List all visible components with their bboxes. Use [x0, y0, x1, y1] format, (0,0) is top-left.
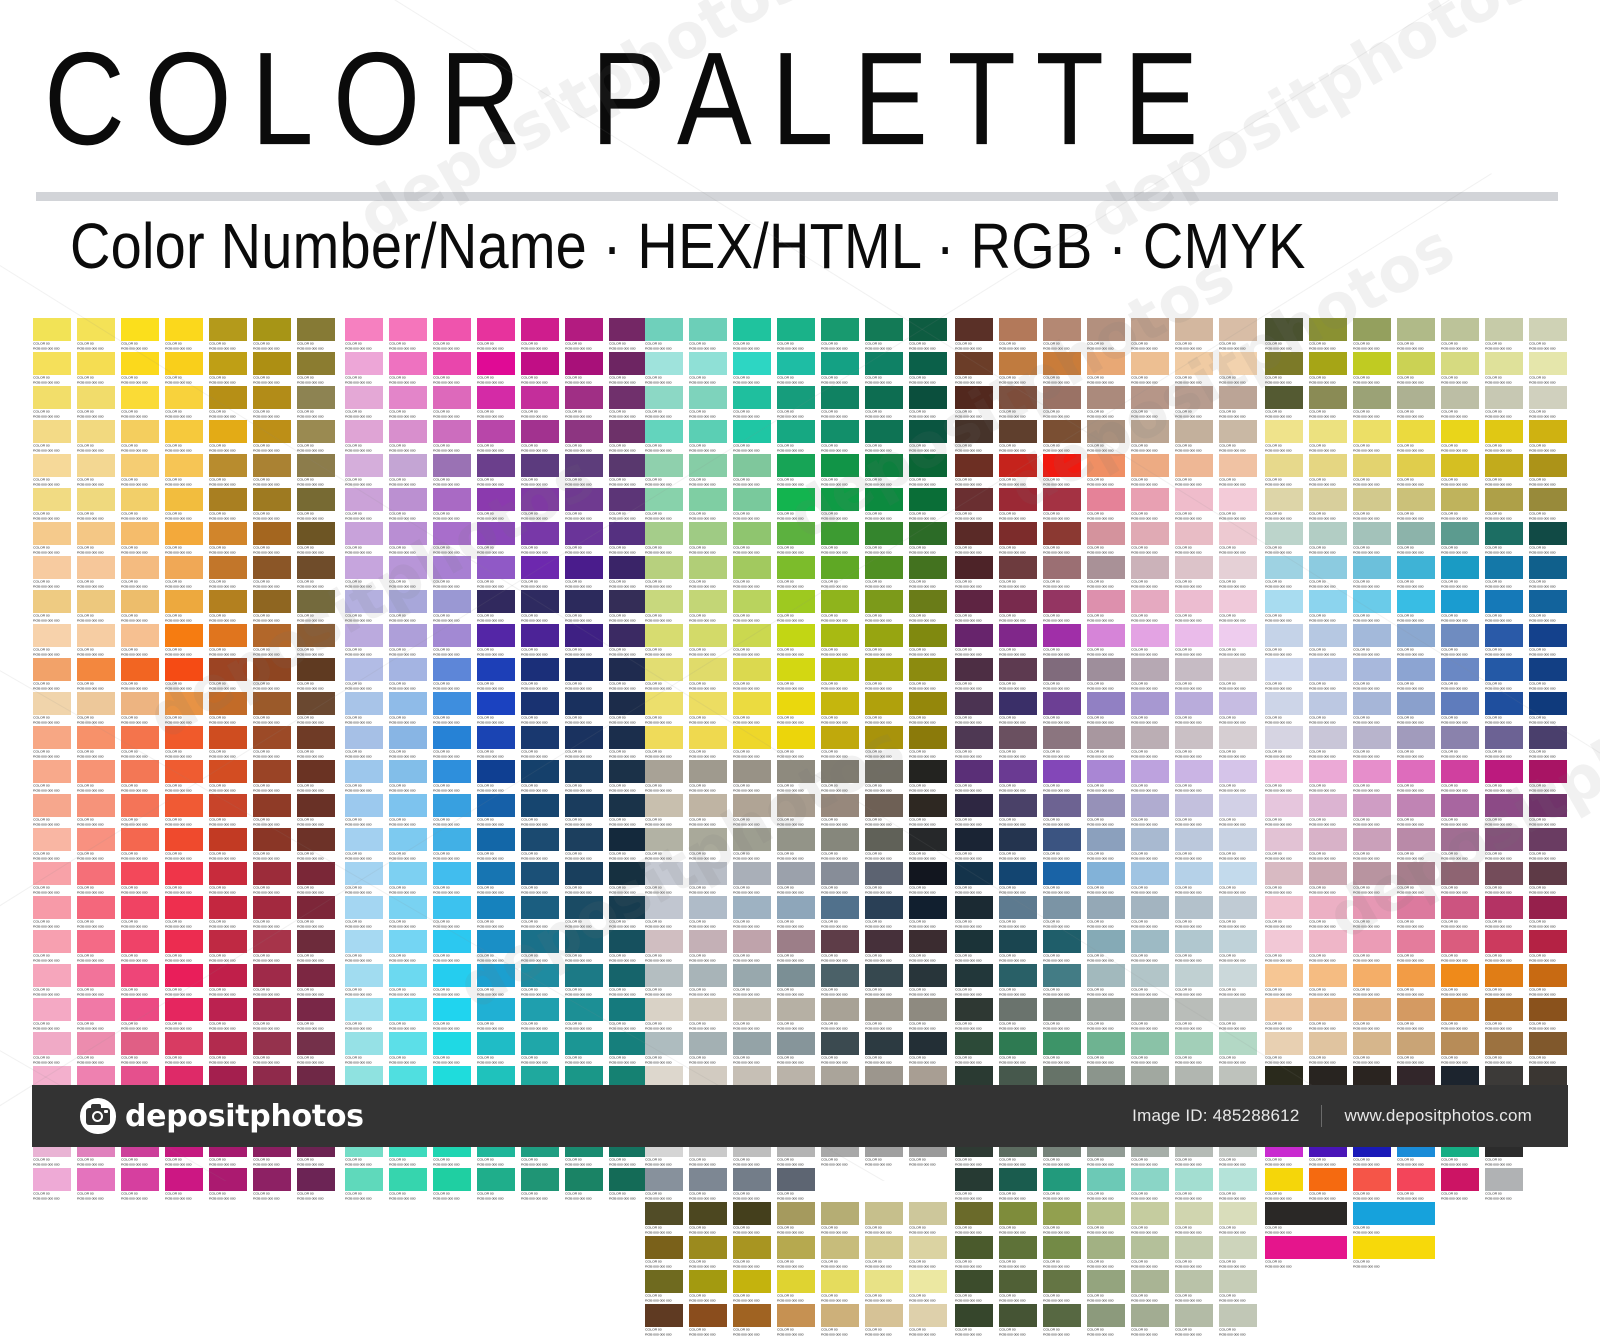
color-swatch[interactable]: COLOR 00RGB 000 000 000 [345, 930, 383, 964]
color-swatch[interactable]: COLOR 00RGB 000 000 000 [1131, 1236, 1169, 1270]
color-swatch[interactable]: COLOR 00RGB 000 000 000 [521, 624, 559, 658]
color-swatch[interactable]: COLOR 00RGB 000 000 000 [389, 624, 427, 658]
color-swatch[interactable]: COLOR 00RGB 000 000 000 [1131, 318, 1169, 352]
color-swatch[interactable]: COLOR 00RGB 000 000 000 [521, 692, 559, 726]
color-swatch[interactable]: COLOR 00RGB 000 000 000 [1087, 386, 1125, 420]
color-swatch[interactable]: COLOR 00RGB 000 000 000 [1265, 386, 1303, 420]
color-swatch[interactable]: COLOR 00RGB 000 000 000 [121, 556, 159, 590]
color-swatch[interactable]: COLOR 00RGB 000 000 000 [821, 794, 859, 828]
color-swatch[interactable]: COLOR 00RGB 000 000 000 [645, 760, 683, 794]
color-swatch[interactable]: COLOR 00RGB 000 000 000 [955, 658, 993, 692]
color-swatch[interactable]: COLOR 00RGB 000 000 000 [777, 624, 815, 658]
color-swatch[interactable]: COLOR 00RGB 000 000 000 [1131, 590, 1169, 624]
color-swatch[interactable]: COLOR 00RGB 000 000 000 [1087, 522, 1125, 556]
color-swatch[interactable]: COLOR 00RGB 000 000 000 [33, 930, 71, 964]
color-swatch[interactable]: COLOR 00RGB 000 000 000 [565, 726, 603, 760]
color-swatch[interactable]: COLOR 00RGB 000 000 000 [1087, 590, 1125, 624]
color-swatch[interactable]: COLOR 00RGB 000 000 000 [77, 522, 115, 556]
color-swatch[interactable]: COLOR 00RGB 000 000 000 [1175, 420, 1213, 454]
color-swatch[interactable]: COLOR 00RGB 000 000 000 [1309, 1032, 1347, 1066]
color-swatch[interactable]: COLOR 00RGB 000 000 000 [645, 828, 683, 862]
color-swatch[interactable]: COLOR 00RGB 000 000 000 [1219, 760, 1257, 794]
color-swatch[interactable]: COLOR 00RGB 000 000 000 [565, 1032, 603, 1066]
color-swatch[interactable]: COLOR 00RGB 000 000 000 [77, 862, 115, 896]
color-swatch[interactable]: COLOR 00RGB 000 000 000 [121, 386, 159, 420]
color-swatch[interactable]: COLOR 00RGB 000 000 000 [33, 692, 71, 726]
color-swatch[interactable]: COLOR 00RGB 000 000 000 [955, 1270, 993, 1304]
color-swatch[interactable]: COLOR 00RGB 000 000 000 [433, 998, 471, 1032]
color-swatch[interactable]: COLOR 00RGB 000 000 000 [33, 590, 71, 624]
color-swatch[interactable]: COLOR 00RGB 000 000 000 [609, 828, 647, 862]
color-swatch[interactable]: COLOR 00RGB 000 000 000 [865, 1304, 903, 1338]
color-swatch[interactable]: COLOR 00RGB 000 000 000 [1485, 896, 1523, 930]
color-swatch[interactable]: COLOR 00RGB 000 000 000 [345, 998, 383, 1032]
color-swatch[interactable]: COLOR 00RGB 000 000 000 [955, 828, 993, 862]
color-swatch[interactable]: COLOR 00RGB 000 000 000 [1485, 488, 1523, 522]
color-swatch[interactable]: COLOR 00RGB 000 000 000 [1265, 896, 1303, 930]
color-swatch[interactable]: COLOR 00RGB 000 000 000 [1441, 998, 1479, 1032]
color-swatch[interactable]: COLOR 00RGB 000 000 000 [345, 760, 383, 794]
color-swatch[interactable]: COLOR 00RGB 000 000 000 [1087, 828, 1125, 862]
color-swatch[interactable]: COLOR 00RGB 000 000 000 [521, 862, 559, 896]
color-swatch[interactable]: COLOR 00RGB 000 000 000 [1175, 352, 1213, 386]
color-swatch[interactable]: COLOR 00RGB 000 000 000 [1265, 352, 1303, 386]
color-swatch[interactable]: COLOR 00RGB 000 000 000 [1175, 862, 1213, 896]
color-swatch[interactable]: COLOR 00RGB 000 000 000 [77, 726, 115, 760]
color-swatch[interactable]: COLOR 00RGB 000 000 000 [1353, 862, 1391, 896]
color-swatch[interactable]: COLOR 00RGB 000 000 000 [777, 386, 815, 420]
color-swatch[interactable]: COLOR 00RGB 000 000 000 [1175, 556, 1213, 590]
color-swatch[interactable]: COLOR 00RGB 000 000 000 [955, 522, 993, 556]
color-swatch[interactable]: COLOR 00RGB 000 000 000 [1485, 1168, 1523, 1202]
color-swatch[interactable]: COLOR 00RGB 000 000 000 [609, 522, 647, 556]
color-swatch[interactable]: COLOR 00RGB 000 000 000 [1309, 964, 1347, 998]
color-swatch[interactable]: COLOR 00RGB 000 000 000 [209, 998, 247, 1032]
color-swatch[interactable]: COLOR 00RGB 000 000 000 [909, 1304, 947, 1338]
color-swatch[interactable]: COLOR 00RGB 000 000 000 [689, 624, 727, 658]
color-swatch[interactable]: COLOR 00RGB 000 000 000 [433, 420, 471, 454]
color-swatch[interactable]: COLOR 00RGB 000 000 000 [121, 930, 159, 964]
color-swatch[interactable]: COLOR 00RGB 000 000 000 [609, 352, 647, 386]
color-swatch[interactable]: COLOR 00RGB 000 000 000 [1131, 522, 1169, 556]
color-swatch[interactable]: COLOR 00RGB 000 000 000 [121, 964, 159, 998]
color-swatch[interactable]: COLOR 00RGB 000 000 000 [1219, 454, 1257, 488]
color-swatch[interactable]: COLOR 00RGB 000 000 000 [1397, 998, 1435, 1032]
color-swatch[interactable]: COLOR 00RGB 000 000 000 [297, 1168, 335, 1202]
color-swatch[interactable]: COLOR 00RGB 000 000 000 [955, 692, 993, 726]
color-swatch[interactable]: COLOR 00RGB 000 000 000 [1175, 624, 1213, 658]
color-swatch[interactable]: COLOR 00RGB 000 000 000 [165, 862, 203, 896]
color-swatch[interactable]: COLOR 00RGB 000 000 000 [297, 454, 335, 488]
color-swatch[interactable]: COLOR 00RGB 000 000 000 [1265, 794, 1303, 828]
color-swatch[interactable]: COLOR 00RGB 000 000 000 [1219, 1304, 1257, 1338]
color-swatch[interactable]: COLOR 00RGB 000 000 000 [865, 726, 903, 760]
color-swatch[interactable]: COLOR 00RGB 000 000 000 [955, 590, 993, 624]
color-swatch[interactable]: COLOR 00RGB 000 000 000 [433, 488, 471, 522]
color-swatch[interactable]: COLOR 00RGB 000 000 000 [821, 1236, 859, 1270]
color-swatch[interactable]: COLOR 00RGB 000 000 000 [689, 760, 727, 794]
color-swatch[interactable]: COLOR 00RGB 000 000 000 [865, 454, 903, 488]
color-swatch[interactable]: COLOR 00RGB 000 000 000 [1131, 1168, 1169, 1202]
color-swatch[interactable]: COLOR 00RGB 000 000 000 [1485, 1032, 1523, 1066]
color-swatch[interactable]: COLOR 00RGB 000 000 000 [345, 488, 383, 522]
color-swatch[interactable]: COLOR 00RGB 000 000 000 [777, 454, 815, 488]
color-swatch[interactable]: COLOR 00RGB 000 000 000 [1353, 930, 1391, 964]
color-swatch[interactable]: COLOR 00RGB 000 000 000 [733, 318, 771, 352]
color-swatch[interactable]: COLOR 00RGB 000 000 000 [521, 386, 559, 420]
color-swatch[interactable]: COLOR 00RGB 000 000 000 [999, 964, 1037, 998]
color-swatch[interactable]: COLOR 00RGB 000 000 000 [645, 454, 683, 488]
color-swatch[interactable]: COLOR 00RGB 000 000 000 [77, 352, 115, 386]
color-swatch[interactable]: COLOR 00RGB 000 000 000 [777, 1270, 815, 1304]
color-swatch[interactable]: COLOR 00RGB 000 000 000 [955, 1168, 993, 1202]
color-swatch[interactable]: COLOR 00RGB 000 000 000 [609, 964, 647, 998]
color-swatch[interactable]: COLOR 00RGB 000 000 000 [777, 1304, 815, 1338]
color-swatch[interactable]: COLOR 00RGB 000 000 000 [821, 964, 859, 998]
color-swatch[interactable]: COLOR 00RGB 000 000 000 [689, 1168, 727, 1202]
color-swatch[interactable]: COLOR 00RGB 000 000 000 [521, 556, 559, 590]
color-swatch[interactable]: COLOR 00RGB 000 000 000 [209, 930, 247, 964]
color-swatch[interactable]: COLOR 00RGB 000 000 000 [345, 794, 383, 828]
color-swatch[interactable]: COLOR 00RGB 000 000 000 [433, 1168, 471, 1202]
color-swatch[interactable]: COLOR 00RGB 000 000 000 [253, 454, 291, 488]
color-swatch[interactable]: COLOR 00RGB 000 000 000 [389, 556, 427, 590]
color-swatch[interactable]: COLOR 00RGB 000 000 000 [477, 964, 515, 998]
color-swatch[interactable]: COLOR 00RGB 000 000 000 [1131, 1202, 1169, 1236]
color-swatch[interactable]: COLOR 00RGB 000 000 000 [999, 386, 1037, 420]
color-swatch[interactable]: COLOR 00RGB 000 000 000 [689, 590, 727, 624]
color-swatch[interactable]: COLOR 00RGB 000 000 000 [645, 726, 683, 760]
color-swatch[interactable]: COLOR 00RGB 000 000 000 [1485, 658, 1523, 692]
color-swatch[interactable]: COLOR 00RGB 000 000 000 [645, 1168, 683, 1202]
color-swatch[interactable]: COLOR 00RGB 000 000 000 [253, 1168, 291, 1202]
color-swatch[interactable]: COLOR 00RGB 000 000 000 [777, 658, 815, 692]
color-swatch[interactable]: COLOR 00RGB 000 000 000 [865, 386, 903, 420]
color-swatch[interactable]: COLOR 00RGB 000 000 000 [645, 522, 683, 556]
color-swatch[interactable]: COLOR 00RGB 000 000 000 [955, 624, 993, 658]
color-swatch[interactable]: COLOR 00RGB 000 000 000 [1353, 726, 1391, 760]
color-swatch[interactable]: COLOR 00RGB 000 000 000 [1353, 352, 1391, 386]
color-swatch[interactable]: COLOR 00RGB 000 000 000 [609, 318, 647, 352]
color-swatch[interactable]: COLOR 00RGB 000 000 000 [297, 318, 335, 352]
color-swatch[interactable]: COLOR 00RGB 000 000 000 [345, 318, 383, 352]
color-swatch[interactable]: COLOR 00RGB 000 000 000 [1309, 420, 1347, 454]
color-swatch[interactable]: COLOR 00RGB 000 000 000 [1265, 862, 1303, 896]
color-swatch[interactable]: COLOR 00RGB 000 000 000 [645, 1236, 683, 1270]
color-swatch[interactable]: COLOR 00RGB 000 000 000 [821, 726, 859, 760]
color-swatch[interactable]: COLOR 00RGB 000 000 000 [1353, 1236, 1435, 1270]
color-swatch[interactable]: COLOR 00RGB 000 000 000 [253, 522, 291, 556]
color-swatch[interactable]: COLOR 00RGB 000 000 000 [821, 998, 859, 1032]
color-swatch[interactable]: COLOR 00RGB 000 000 000 [1219, 318, 1257, 352]
color-swatch[interactable]: COLOR 00RGB 000 000 000 [1131, 624, 1169, 658]
color-swatch[interactable]: COLOR 00RGB 000 000 000 [777, 556, 815, 590]
color-swatch[interactable]: COLOR 00RGB 000 000 000 [1175, 1032, 1213, 1066]
color-swatch[interactable]: COLOR 00RGB 000 000 000 [565, 862, 603, 896]
color-swatch[interactable]: COLOR 00RGB 000 000 000 [297, 964, 335, 998]
color-swatch[interactable]: COLOR 00RGB 000 000 000 [865, 556, 903, 590]
color-swatch[interactable]: COLOR 00RGB 000 000 000 [909, 488, 947, 522]
color-swatch[interactable]: COLOR 00RGB 000 000 000 [1441, 488, 1479, 522]
color-swatch[interactable]: COLOR 00RGB 000 000 000 [253, 386, 291, 420]
color-swatch[interactable]: COLOR 00RGB 000 000 000 [609, 488, 647, 522]
color-swatch[interactable]: COLOR 00RGB 000 000 000 [121, 318, 159, 352]
color-swatch[interactable]: COLOR 00RGB 000 000 000 [565, 760, 603, 794]
color-swatch[interactable]: COLOR 00RGB 000 000 000 [777, 590, 815, 624]
color-swatch[interactable]: COLOR 00RGB 000 000 000 [1353, 624, 1391, 658]
color-swatch[interactable]: COLOR 00RGB 000 000 000 [777, 862, 815, 896]
color-swatch[interactable]: COLOR 00RGB 000 000 000 [209, 352, 247, 386]
color-swatch[interactable]: COLOR 00RGB 000 000 000 [253, 420, 291, 454]
color-swatch[interactable]: COLOR 00RGB 000 000 000 [521, 1168, 559, 1202]
color-swatch[interactable]: COLOR 00RGB 000 000 000 [1265, 828, 1303, 862]
color-swatch[interactable]: COLOR 00RGB 000 000 000 [165, 964, 203, 998]
color-swatch[interactable]: COLOR 00RGB 000 000 000 [253, 1032, 291, 1066]
color-swatch[interactable]: COLOR 00RGB 000 000 000 [1441, 454, 1479, 488]
color-swatch[interactable]: COLOR 00RGB 000 000 000 [609, 896, 647, 930]
color-swatch[interactable]: COLOR 00RGB 000 000 000 [821, 896, 859, 930]
color-swatch[interactable]: COLOR 00RGB 000 000 000 [777, 488, 815, 522]
color-swatch[interactable]: COLOR 00RGB 000 000 000 [33, 828, 71, 862]
color-swatch[interactable]: COLOR 00RGB 000 000 000 [1087, 318, 1125, 352]
color-swatch[interactable]: COLOR 00RGB 000 000 000 [865, 624, 903, 658]
color-swatch[interactable]: COLOR 00RGB 000 000 000 [565, 1168, 603, 1202]
color-swatch[interactable]: COLOR 00RGB 000 000 000 [1485, 964, 1523, 998]
color-swatch[interactable]: COLOR 00RGB 000 000 000 [253, 998, 291, 1032]
color-swatch[interactable]: COLOR 00RGB 000 000 000 [999, 590, 1037, 624]
color-swatch[interactable]: COLOR 00RGB 000 000 000 [77, 896, 115, 930]
color-swatch[interactable]: COLOR 00RGB 000 000 000 [1043, 862, 1081, 896]
color-swatch[interactable]: COLOR 00RGB 000 000 000 [345, 726, 383, 760]
color-swatch[interactable]: COLOR 00RGB 000 000 000 [609, 556, 647, 590]
color-swatch[interactable]: COLOR 00RGB 000 000 000 [433, 318, 471, 352]
color-swatch[interactable]: COLOR 00RGB 000 000 000 [77, 556, 115, 590]
color-swatch[interactable]: COLOR 00RGB 000 000 000 [77, 590, 115, 624]
color-swatch[interactable]: COLOR 00RGB 000 000 000 [1087, 964, 1125, 998]
color-swatch[interactable]: COLOR 00RGB 000 000 000 [1309, 692, 1347, 726]
color-swatch[interactable]: COLOR 00RGB 000 000 000 [1131, 794, 1169, 828]
color-swatch[interactable]: COLOR 00RGB 000 000 000 [521, 794, 559, 828]
color-swatch[interactable]: COLOR 00RGB 000 000 000 [609, 760, 647, 794]
color-swatch[interactable]: COLOR 00RGB 000 000 000 [999, 318, 1037, 352]
color-swatch[interactable]: COLOR 00RGB 000 000 000 [121, 794, 159, 828]
color-swatch[interactable]: COLOR 00RGB 000 000 000 [1353, 488, 1391, 522]
color-swatch[interactable]: COLOR 00RGB 000 000 000 [1441, 420, 1479, 454]
color-swatch[interactable]: COLOR 00RGB 000 000 000 [1353, 658, 1391, 692]
color-swatch[interactable]: COLOR 00RGB 000 000 000 [689, 862, 727, 896]
color-swatch[interactable]: COLOR 00RGB 000 000 000 [777, 1032, 815, 1066]
color-swatch[interactable]: COLOR 00RGB 000 000 000 [821, 624, 859, 658]
color-swatch[interactable]: COLOR 00RGB 000 000 000 [865, 1032, 903, 1066]
color-swatch[interactable]: COLOR 00RGB 000 000 000 [733, 862, 771, 896]
color-swatch[interactable]: COLOR 00RGB 000 000 000 [821, 1270, 859, 1304]
color-swatch[interactable]: COLOR 00RGB 000 000 000 [645, 1032, 683, 1066]
color-swatch[interactable]: COLOR 00RGB 000 000 000 [1175, 386, 1213, 420]
color-swatch[interactable]: COLOR 00RGB 000 000 000 [609, 658, 647, 692]
color-swatch[interactable]: COLOR 00RGB 000 000 000 [1087, 488, 1125, 522]
color-swatch[interactable]: COLOR 00RGB 000 000 000 [1529, 794, 1567, 828]
color-swatch[interactable]: COLOR 00RGB 000 000 000 [121, 862, 159, 896]
color-swatch[interactable]: COLOR 00RGB 000 000 000 [1309, 318, 1347, 352]
color-swatch[interactable]: COLOR 00RGB 000 000 000 [645, 658, 683, 692]
color-swatch[interactable]: COLOR 00RGB 000 000 000 [1309, 862, 1347, 896]
color-swatch[interactable]: COLOR 00RGB 000 000 000 [477, 624, 515, 658]
color-swatch[interactable]: COLOR 00RGB 000 000 000 [821, 420, 859, 454]
color-swatch[interactable]: COLOR 00RGB 000 000 000 [477, 794, 515, 828]
color-swatch[interactable]: COLOR 00RGB 000 000 000 [1043, 658, 1081, 692]
color-swatch[interactable]: COLOR 00RGB 000 000 000 [565, 624, 603, 658]
color-swatch[interactable]: COLOR 00RGB 000 000 000 [1219, 896, 1257, 930]
color-swatch[interactable]: COLOR 00RGB 000 000 000 [1219, 386, 1257, 420]
color-swatch[interactable]: COLOR 00RGB 000 000 000 [1441, 318, 1479, 352]
color-swatch[interactable]: COLOR 00RGB 000 000 000 [477, 522, 515, 556]
color-swatch[interactable]: COLOR 00RGB 000 000 000 [689, 522, 727, 556]
color-swatch[interactable]: COLOR 00RGB 000 000 000 [297, 556, 335, 590]
color-swatch[interactable]: COLOR 00RGB 000 000 000 [1309, 386, 1347, 420]
color-swatch[interactable]: COLOR 00RGB 000 000 000 [865, 522, 903, 556]
color-swatch[interactable]: COLOR 00RGB 000 000 000 [1043, 590, 1081, 624]
color-swatch[interactable]: COLOR 00RGB 000 000 000 [165, 386, 203, 420]
color-swatch[interactable]: COLOR 00RGB 000 000 000 [1087, 658, 1125, 692]
color-swatch[interactable]: COLOR 00RGB 000 000 000 [1309, 726, 1347, 760]
color-swatch[interactable]: COLOR 00RGB 000 000 000 [1353, 998, 1391, 1032]
color-swatch[interactable]: COLOR 00RGB 000 000 000 [1087, 1032, 1125, 1066]
color-swatch[interactable]: COLOR 00RGB 000 000 000 [1397, 760, 1435, 794]
color-swatch[interactable]: COLOR 00RGB 000 000 000 [955, 488, 993, 522]
color-swatch[interactable]: COLOR 00RGB 000 000 000 [565, 590, 603, 624]
color-swatch[interactable]: COLOR 00RGB 000 000 000 [1219, 590, 1257, 624]
color-swatch[interactable]: COLOR 00RGB 000 000 000 [865, 420, 903, 454]
color-swatch[interactable]: COLOR 00RGB 000 000 000 [865, 1236, 903, 1270]
color-swatch[interactable]: COLOR 00RGB 000 000 000 [1219, 420, 1257, 454]
color-swatch[interactable]: COLOR 00RGB 000 000 000 [521, 658, 559, 692]
color-swatch[interactable]: COLOR 00RGB 000 000 000 [1043, 454, 1081, 488]
color-swatch[interactable]: COLOR 00RGB 000 000 000 [1309, 1168, 1347, 1202]
color-swatch[interactable]: COLOR 00RGB 000 000 000 [1087, 794, 1125, 828]
color-swatch[interactable]: COLOR 00RGB 000 000 000 [1043, 624, 1081, 658]
color-swatch[interactable]: COLOR 00RGB 000 000 000 [777, 692, 815, 726]
color-swatch[interactable]: COLOR 00RGB 000 000 000 [1087, 1236, 1125, 1270]
color-swatch[interactable]: COLOR 00RGB 000 000 000 [733, 1032, 771, 1066]
color-swatch[interactable]: COLOR 00RGB 000 000 000 [1265, 658, 1303, 692]
color-swatch[interactable]: COLOR 00RGB 000 000 000 [1397, 1032, 1435, 1066]
color-swatch[interactable]: COLOR 00RGB 000 000 000 [909, 794, 947, 828]
color-swatch[interactable]: COLOR 00RGB 000 000 000 [1309, 556, 1347, 590]
color-swatch[interactable]: COLOR 00RGB 000 000 000 [1265, 624, 1303, 658]
color-swatch[interactable]: COLOR 00RGB 000 000 000 [77, 794, 115, 828]
color-swatch[interactable]: COLOR 00RGB 000 000 000 [565, 420, 603, 454]
color-swatch[interactable]: COLOR 00RGB 000 000 000 [77, 998, 115, 1032]
color-swatch[interactable]: COLOR 00RGB 000 000 000 [33, 454, 71, 488]
color-swatch[interactable]: COLOR 00RGB 000 000 000 [477, 760, 515, 794]
color-swatch[interactable]: COLOR 00RGB 000 000 000 [1309, 454, 1347, 488]
color-swatch[interactable]: COLOR 00RGB 000 000 000 [345, 1168, 383, 1202]
color-swatch[interactable]: COLOR 00RGB 000 000 000 [1529, 420, 1567, 454]
color-swatch[interactable]: COLOR 00RGB 000 000 000 [821, 862, 859, 896]
color-swatch[interactable]: COLOR 00RGB 000 000 000 [121, 760, 159, 794]
color-swatch[interactable]: COLOR 00RGB 000 000 000 [645, 862, 683, 896]
color-swatch[interactable]: COLOR 00RGB 000 000 000 [1265, 760, 1303, 794]
color-swatch[interactable]: COLOR 00RGB 000 000 000 [1175, 522, 1213, 556]
color-swatch[interactable]: COLOR 00RGB 000 000 000 [1175, 1304, 1213, 1338]
color-swatch[interactable]: COLOR 00RGB 000 000 000 [1265, 590, 1303, 624]
color-swatch[interactable]: COLOR 00RGB 000 000 000 [821, 1202, 859, 1236]
color-swatch[interactable]: COLOR 00RGB 000 000 000 [1353, 828, 1391, 862]
color-swatch[interactable]: COLOR 00RGB 000 000 000 [733, 692, 771, 726]
color-swatch[interactable]: COLOR 00RGB 000 000 000 [165, 998, 203, 1032]
color-swatch[interactable]: COLOR 00RGB 000 000 000 [1131, 1270, 1169, 1304]
color-swatch[interactable]: COLOR 00RGB 000 000 000 [1397, 556, 1435, 590]
color-swatch[interactable]: COLOR 00RGB 000 000 000 [645, 556, 683, 590]
color-swatch[interactable]: COLOR 00RGB 000 000 000 [433, 896, 471, 930]
color-swatch[interactable]: COLOR 00RGB 000 000 000 [1087, 1304, 1125, 1338]
color-swatch[interactable]: COLOR 00RGB 000 000 000 [909, 522, 947, 556]
color-swatch[interactable]: COLOR 00RGB 000 000 000 [345, 692, 383, 726]
color-swatch[interactable]: COLOR 00RGB 000 000 000 [389, 386, 427, 420]
color-swatch[interactable]: COLOR 00RGB 000 000 000 [821, 488, 859, 522]
color-swatch[interactable]: COLOR 00RGB 000 000 000 [689, 726, 727, 760]
color-swatch[interactable]: COLOR 00RGB 000 000 000 [389, 692, 427, 726]
color-swatch[interactable]: COLOR 00RGB 000 000 000 [955, 386, 993, 420]
color-swatch[interactable]: COLOR 00RGB 000 000 000 [477, 386, 515, 420]
color-swatch[interactable]: COLOR 00RGB 000 000 000 [209, 590, 247, 624]
color-swatch[interactable]: COLOR 00RGB 000 000 000 [909, 454, 947, 488]
color-swatch[interactable]: COLOR 00RGB 000 000 000 [909, 726, 947, 760]
color-swatch[interactable]: COLOR 00RGB 000 000 000 [477, 828, 515, 862]
color-swatch[interactable]: COLOR 00RGB 000 000 000 [999, 794, 1037, 828]
color-swatch[interactable]: COLOR 00RGB 000 000 000 [1397, 896, 1435, 930]
color-swatch[interactable]: COLOR 00RGB 000 000 000 [345, 658, 383, 692]
color-swatch[interactable]: COLOR 00RGB 000 000 000 [433, 930, 471, 964]
color-swatch[interactable]: COLOR 00RGB 000 000 000 [121, 692, 159, 726]
color-swatch[interactable]: COLOR 00RGB 000 000 000 [1529, 488, 1567, 522]
color-swatch[interactable]: COLOR 00RGB 000 000 000 [1309, 930, 1347, 964]
color-swatch[interactable]: COLOR 00RGB 000 000 000 [521, 352, 559, 386]
color-swatch[interactable]: COLOR 00RGB 000 000 000 [909, 930, 947, 964]
color-swatch[interactable]: COLOR 00RGB 000 000 000 [777, 522, 815, 556]
color-swatch[interactable]: COLOR 00RGB 000 000 000 [1131, 828, 1169, 862]
color-swatch[interactable]: COLOR 00RGB 000 000 000 [821, 556, 859, 590]
color-swatch[interactable]: COLOR 00RGB 000 000 000 [345, 386, 383, 420]
color-swatch[interactable]: COLOR 00RGB 000 000 000 [33, 794, 71, 828]
color-swatch[interactable]: COLOR 00RGB 000 000 000 [1397, 658, 1435, 692]
color-swatch[interactable]: COLOR 00RGB 000 000 000 [1265, 964, 1303, 998]
color-swatch[interactable]: COLOR 00RGB 000 000 000 [209, 624, 247, 658]
color-swatch[interactable]: COLOR 00RGB 000 000 000 [297, 998, 335, 1032]
color-swatch[interactable]: COLOR 00RGB 000 000 000 [297, 896, 335, 930]
color-swatch[interactable]: COLOR 00RGB 000 000 000 [999, 1202, 1037, 1236]
color-swatch[interactable]: COLOR 00RGB 000 000 000 [209, 658, 247, 692]
color-swatch[interactable]: COLOR 00RGB 000 000 000 [1087, 692, 1125, 726]
color-swatch[interactable]: COLOR 00RGB 000 000 000 [1087, 624, 1125, 658]
color-swatch[interactable]: COLOR 00RGB 000 000 000 [689, 1270, 727, 1304]
color-swatch[interactable]: COLOR 00RGB 000 000 000 [689, 964, 727, 998]
color-swatch[interactable]: COLOR 00RGB 000 000 000 [121, 590, 159, 624]
color-swatch[interactable]: COLOR 00RGB 000 000 000 [1175, 726, 1213, 760]
color-swatch[interactable]: COLOR 00RGB 000 000 000 [999, 488, 1037, 522]
color-swatch[interactable]: COLOR 00RGB 000 000 000 [609, 930, 647, 964]
color-swatch[interactable]: COLOR 00RGB 000 000 000 [33, 352, 71, 386]
color-swatch[interactable]: COLOR 00RGB 000 000 000 [909, 1202, 947, 1236]
color-swatch[interactable]: COLOR 00RGB 000 000 000 [521, 522, 559, 556]
color-swatch[interactable]: COLOR 00RGB 000 000 000 [689, 692, 727, 726]
color-swatch[interactable]: COLOR 00RGB 000 000 000 [1529, 658, 1567, 692]
color-swatch[interactable]: COLOR 00RGB 000 000 000 [1043, 1236, 1081, 1270]
color-swatch[interactable]: COLOR 00RGB 000 000 000 [77, 760, 115, 794]
color-swatch[interactable]: COLOR 00RGB 000 000 000 [209, 522, 247, 556]
color-swatch[interactable]: COLOR 00RGB 000 000 000 [909, 692, 947, 726]
color-swatch[interactable]: COLOR 00RGB 000 000 000 [645, 1202, 683, 1236]
